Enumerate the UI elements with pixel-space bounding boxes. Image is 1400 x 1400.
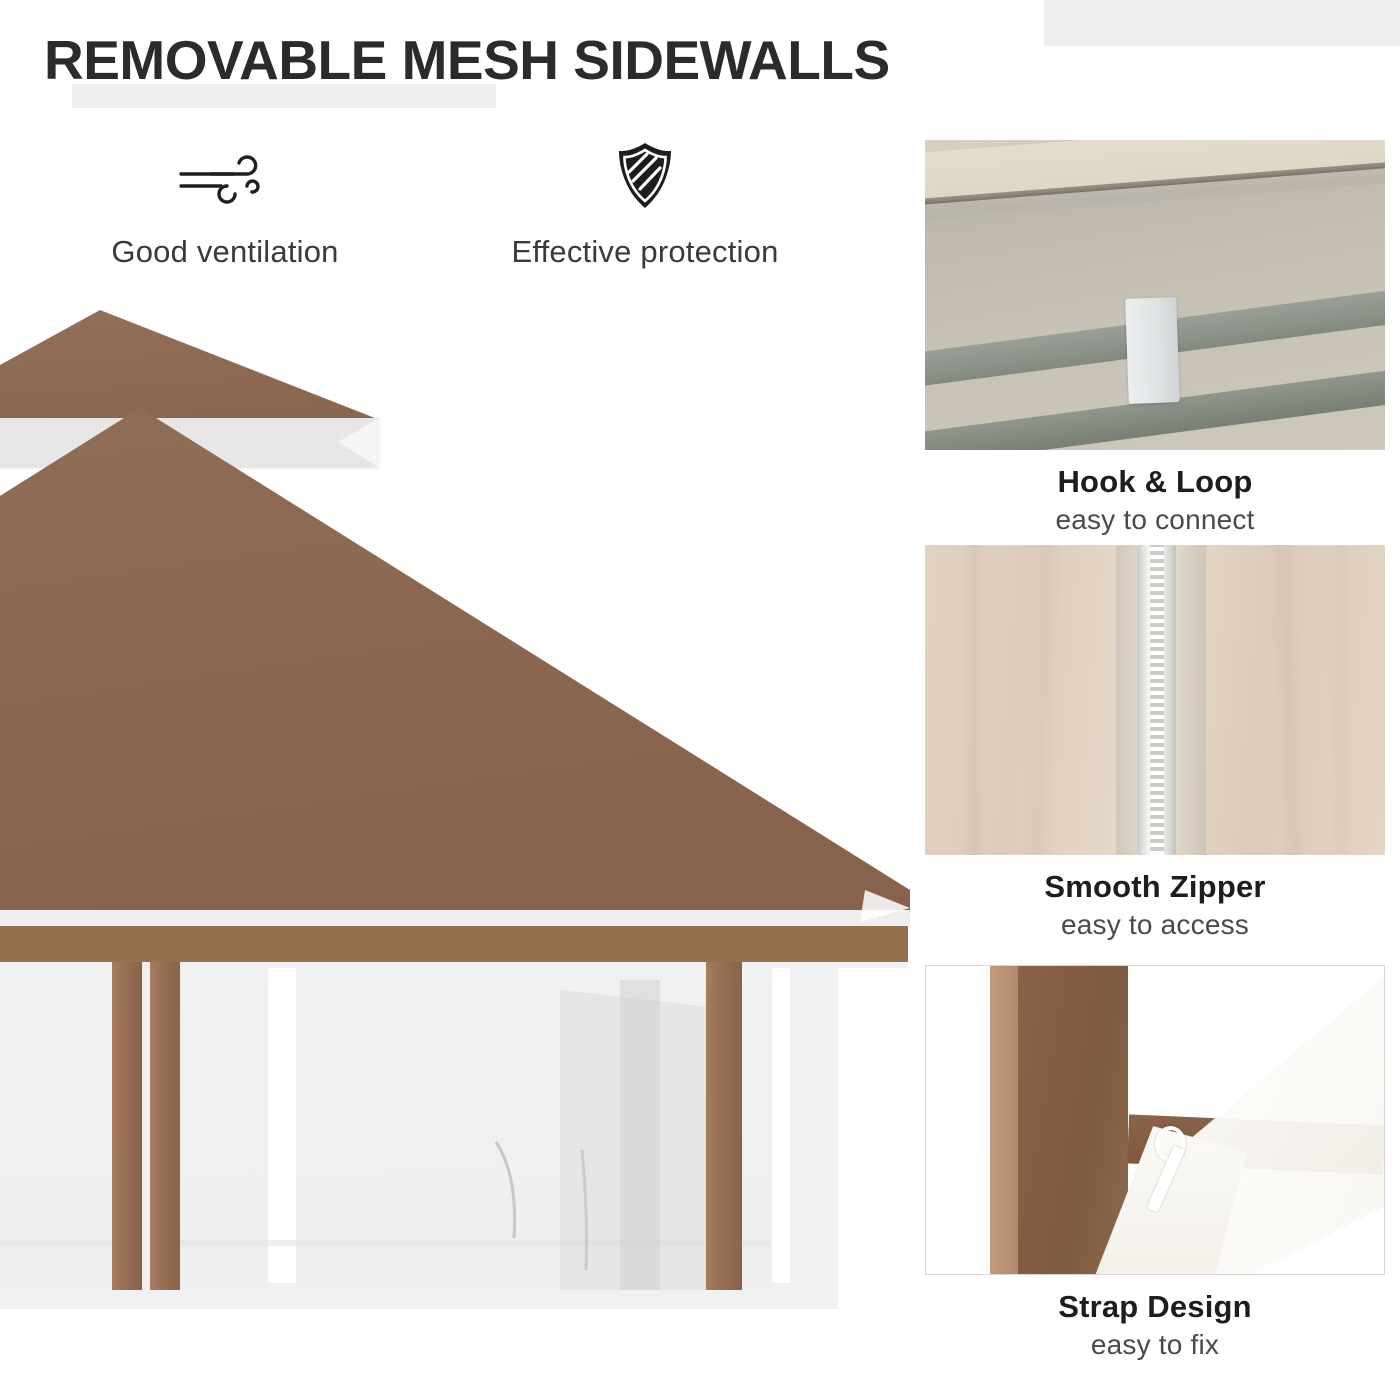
panel-subtitle: easy to access — [925, 909, 1385, 941]
feature-good-ventilation: Good ventilation — [60, 140, 390, 270]
panel-smooth-zipper: Smooth Zipper easy to access — [925, 545, 1385, 941]
shield-icon — [460, 140, 830, 212]
strap-tied-mesh-curtain-photo — [925, 965, 1385, 1275]
panel-caption: Smooth Zipper easy to access — [925, 855, 1385, 941]
feature-label: Good ventilation — [60, 234, 390, 270]
panel-hook-and-loop: Hook & Loop easy to connect — [925, 140, 1385, 536]
infographic-stage: REMOVABLE MESH SIDEWALLS Good ventilatio… — [0, 0, 1400, 1400]
feature-effective-protection: Effective protection — [460, 140, 830, 270]
panel-subtitle: easy to fix — [925, 1329, 1385, 1361]
wind-icon — [60, 140, 390, 212]
panel-title: Strap Design — [925, 1289, 1385, 1325]
zipper-closeup-photo — [925, 545, 1385, 855]
page-title: REMOVABLE MESH SIDEWALLS — [44, 28, 890, 92]
panel-subtitle: easy to connect — [925, 504, 1385, 536]
panel-caption: Strap Design easy to fix — [925, 1275, 1385, 1361]
decorative-band-top-right — [1044, 0, 1400, 46]
panel-caption: Hook & Loop easy to connect — [925, 450, 1385, 536]
panel-strap-design: Strap Design easy to fix — [925, 965, 1385, 1361]
panel-title: Hook & Loop — [925, 464, 1385, 500]
panel-title: Smooth Zipper — [925, 869, 1385, 905]
hook-and-loop-strap-photo — [925, 140, 1385, 450]
gazebo-illustration — [0, 290, 920, 1290]
feature-label: Effective protection — [460, 234, 830, 270]
